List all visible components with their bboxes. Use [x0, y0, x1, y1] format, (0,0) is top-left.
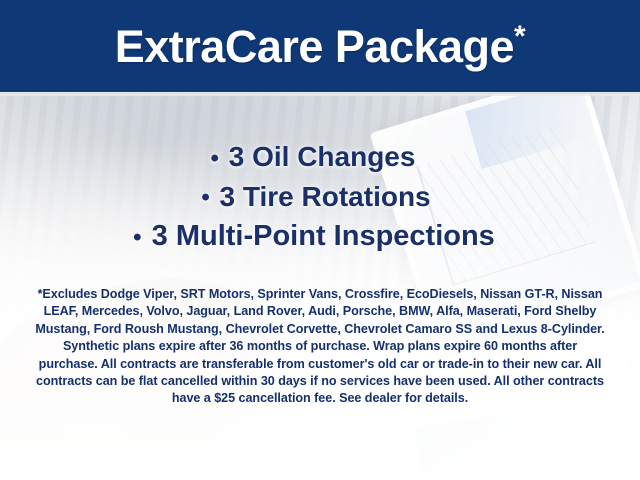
bullet-icon: • [201, 184, 211, 211]
benefit-label: 3 Tire Rotations [220, 181, 431, 212]
bullet-icon: • [211, 145, 221, 172]
extracare-package-promo: ExtraCare Package* • 3 Oil Changes • 3 T… [0, 0, 640, 480]
page-title: ExtraCare Package* [115, 24, 525, 69]
header-underline-divider [0, 92, 640, 96]
disclaimer-text: *Excludes Dodge Viper, SRT Motors, Sprin… [32, 286, 608, 408]
page-title-text: ExtraCare Package [115, 21, 514, 72]
header-banner: ExtraCare Package* [0, 0, 640, 94]
benefit-item-oil-changes: • 3 Oil Changes [0, 138, 640, 178]
benefit-item-multi-point-inspections: • 3 Multi-Point Inspections [0, 217, 640, 256]
benefit-item-tire-rotations: • 3 Tire Rotations [0, 178, 640, 218]
benefit-label: 3 Oil Changes [229, 141, 416, 172]
title-asterisk: * [514, 20, 525, 53]
benefits-list: • 3 Oil Changes • 3 Tire Rotations • 3 M… [0, 138, 640, 257]
bullet-icon: • [133, 224, 143, 251]
benefit-label: 3 Multi-Point Inspections [152, 220, 495, 252]
